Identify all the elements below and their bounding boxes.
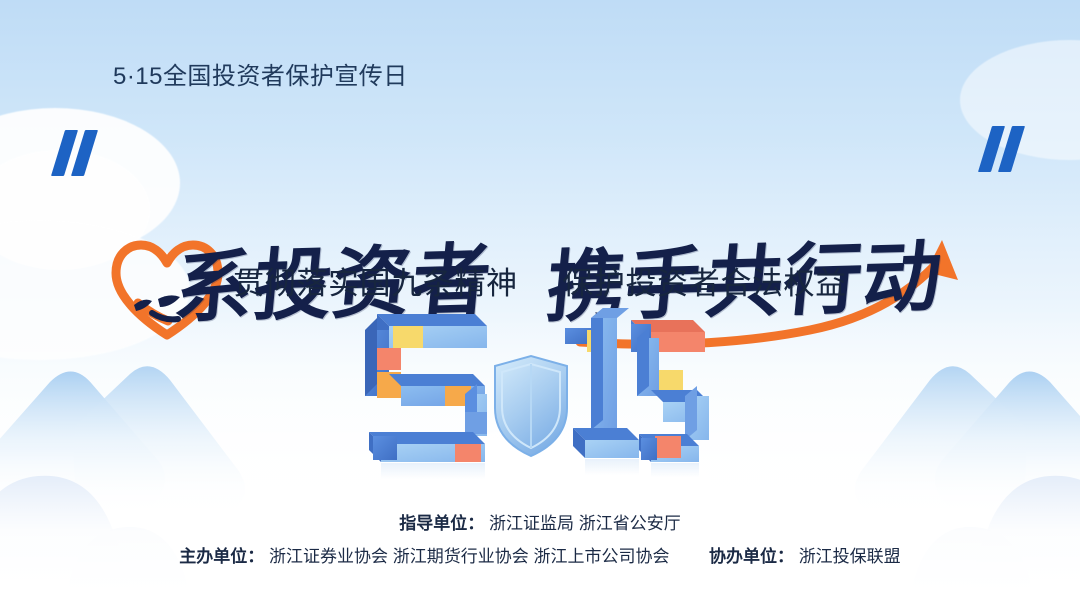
close-quote-mark <box>985 126 1018 172</box>
host-values: 浙江证券业协会 浙江期货行业协会 浙江上市公司协会 <box>269 547 669 566</box>
kicker-text: 5·15全国投资者保护宣传日 <box>113 56 408 91</box>
subtitle-line: 贯彻落实国九条精神 保护投资者合法权益 <box>0 258 1080 303</box>
poster-canvas: 5·15全国投资者保护宣传日 系投资者 携手共行动 <box>0 0 1080 607</box>
host-label: 主办单位： <box>179 547 264 566</box>
cohost-values: 浙江投保联盟 <box>799 547 901 566</box>
subtitle-left: 贯彻落实国九条精神 <box>233 266 518 301</box>
shield-icon <box>495 356 567 456</box>
cohost-label: 协办单位： <box>709 547 794 566</box>
credits-block: 指导单位： 浙江证监局 浙江省公安厅 主办单位： 浙江证券业协会 浙江期货行业协… <box>0 508 1080 573</box>
open-quote-mark <box>58 130 91 176</box>
headline-group: 系投资者 携手共行动 <box>0 104 1080 254</box>
logo-515 <box>355 300 715 485</box>
credit-row-guide: 指导单位： 浙江证监局 浙江省公安厅 <box>0 508 1080 540</box>
subtitle-right: 保护投资者合法权益 <box>562 266 847 301</box>
guide-values: 浙江证监局 浙江省公安厅 <box>489 514 681 533</box>
credit-row-hosts: 主办单位： 浙江证券业协会 浙江期货行业协会 浙江上市公司协会 协办单位： 浙江… <box>0 541 1080 573</box>
guide-label: 指导单位： <box>399 514 484 533</box>
